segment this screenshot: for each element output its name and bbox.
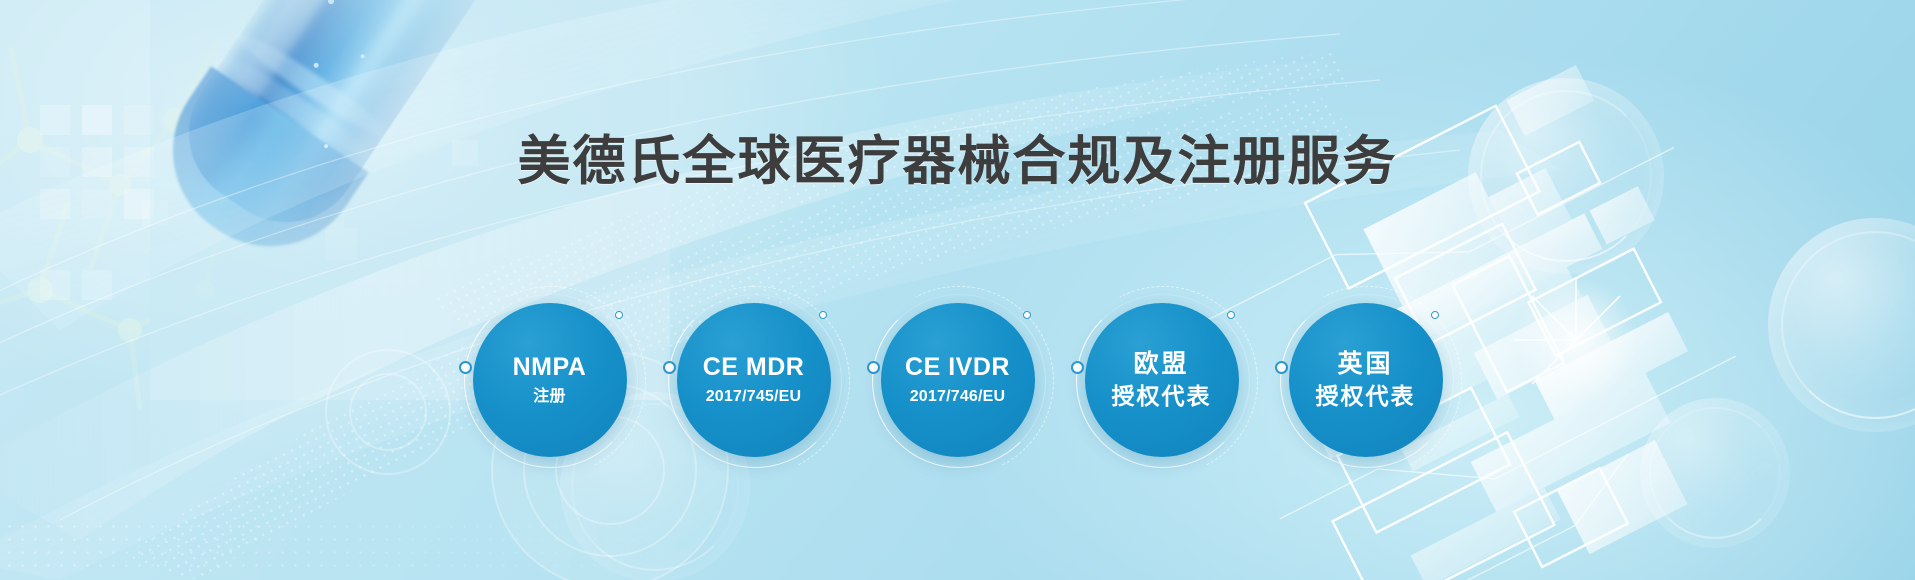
badge-line1: 英国 — [1316, 350, 1416, 380]
badge-ring-dot-icon — [1071, 361, 1084, 374]
service-badge-ce-ivdr[interactable]: CE IVDR 2017/746/EU — [881, 303, 1035, 457]
badge-ring-dot-icon — [1275, 361, 1288, 374]
service-badge-nmpa[interactable]: NMPA 注册 — [473, 303, 627, 457]
service-badge-ce-mdr[interactable]: CE MDR 2017/745/EU — [677, 303, 831, 457]
badge-label: CE IVDR 2017/746/EU — [899, 353, 1016, 406]
service-badge-eu-ar[interactable]: 欧盟 授权代表 — [1085, 303, 1239, 457]
badge-line1: CE IVDR — [905, 353, 1010, 383]
badge-label: 欧盟 授权代表 — [1106, 350, 1218, 410]
badge-label: CE MDR 2017/745/EU — [697, 353, 811, 406]
badge-ring-dot-icon — [1227, 311, 1235, 319]
badge-label: NMPA 注册 — [507, 353, 593, 406]
service-badge-uk-rp[interactable]: 英国 授权代表 — [1289, 303, 1443, 457]
badge-ring-dot-icon — [1431, 311, 1439, 319]
badge-ring-dot-icon — [459, 361, 472, 374]
badge-ring-dot-icon — [867, 361, 880, 374]
badge-line1: NMPA — [513, 353, 587, 383]
service-badge-row: NMPA 注册 CE MDR 2017/745/EU CE IVDR 2017/ — [0, 295, 1915, 465]
badge-line1: 欧盟 — [1112, 350, 1212, 380]
badge-line2: 授权代表 — [1112, 383, 1212, 410]
badge-ring-dot-icon — [615, 311, 623, 319]
badge-ring-dot-icon — [663, 361, 676, 374]
badge-line2: 2017/746/EU — [905, 388, 1010, 407]
page-title: 美德氏全球医疗器械合规及注册服务 — [0, 119, 1915, 195]
badge-line2: 注册 — [513, 388, 587, 407]
badge-line2: 2017/745/EU — [703, 388, 805, 407]
badge-line1: CE MDR — [703, 353, 805, 383]
badge-line2: 授权代表 — [1316, 383, 1416, 410]
dot-matrix-strip-decoration — [0, 520, 1070, 574]
banner-root: 美德氏全球医疗器械合规及注册服务 NMPA 注册 CE MDR 2017/745… — [0, 0, 1915, 580]
badge-ring-dot-icon — [819, 311, 827, 319]
badge-ring-dot-icon — [1023, 311, 1031, 319]
badge-label: 英国 授权代表 — [1310, 350, 1422, 410]
